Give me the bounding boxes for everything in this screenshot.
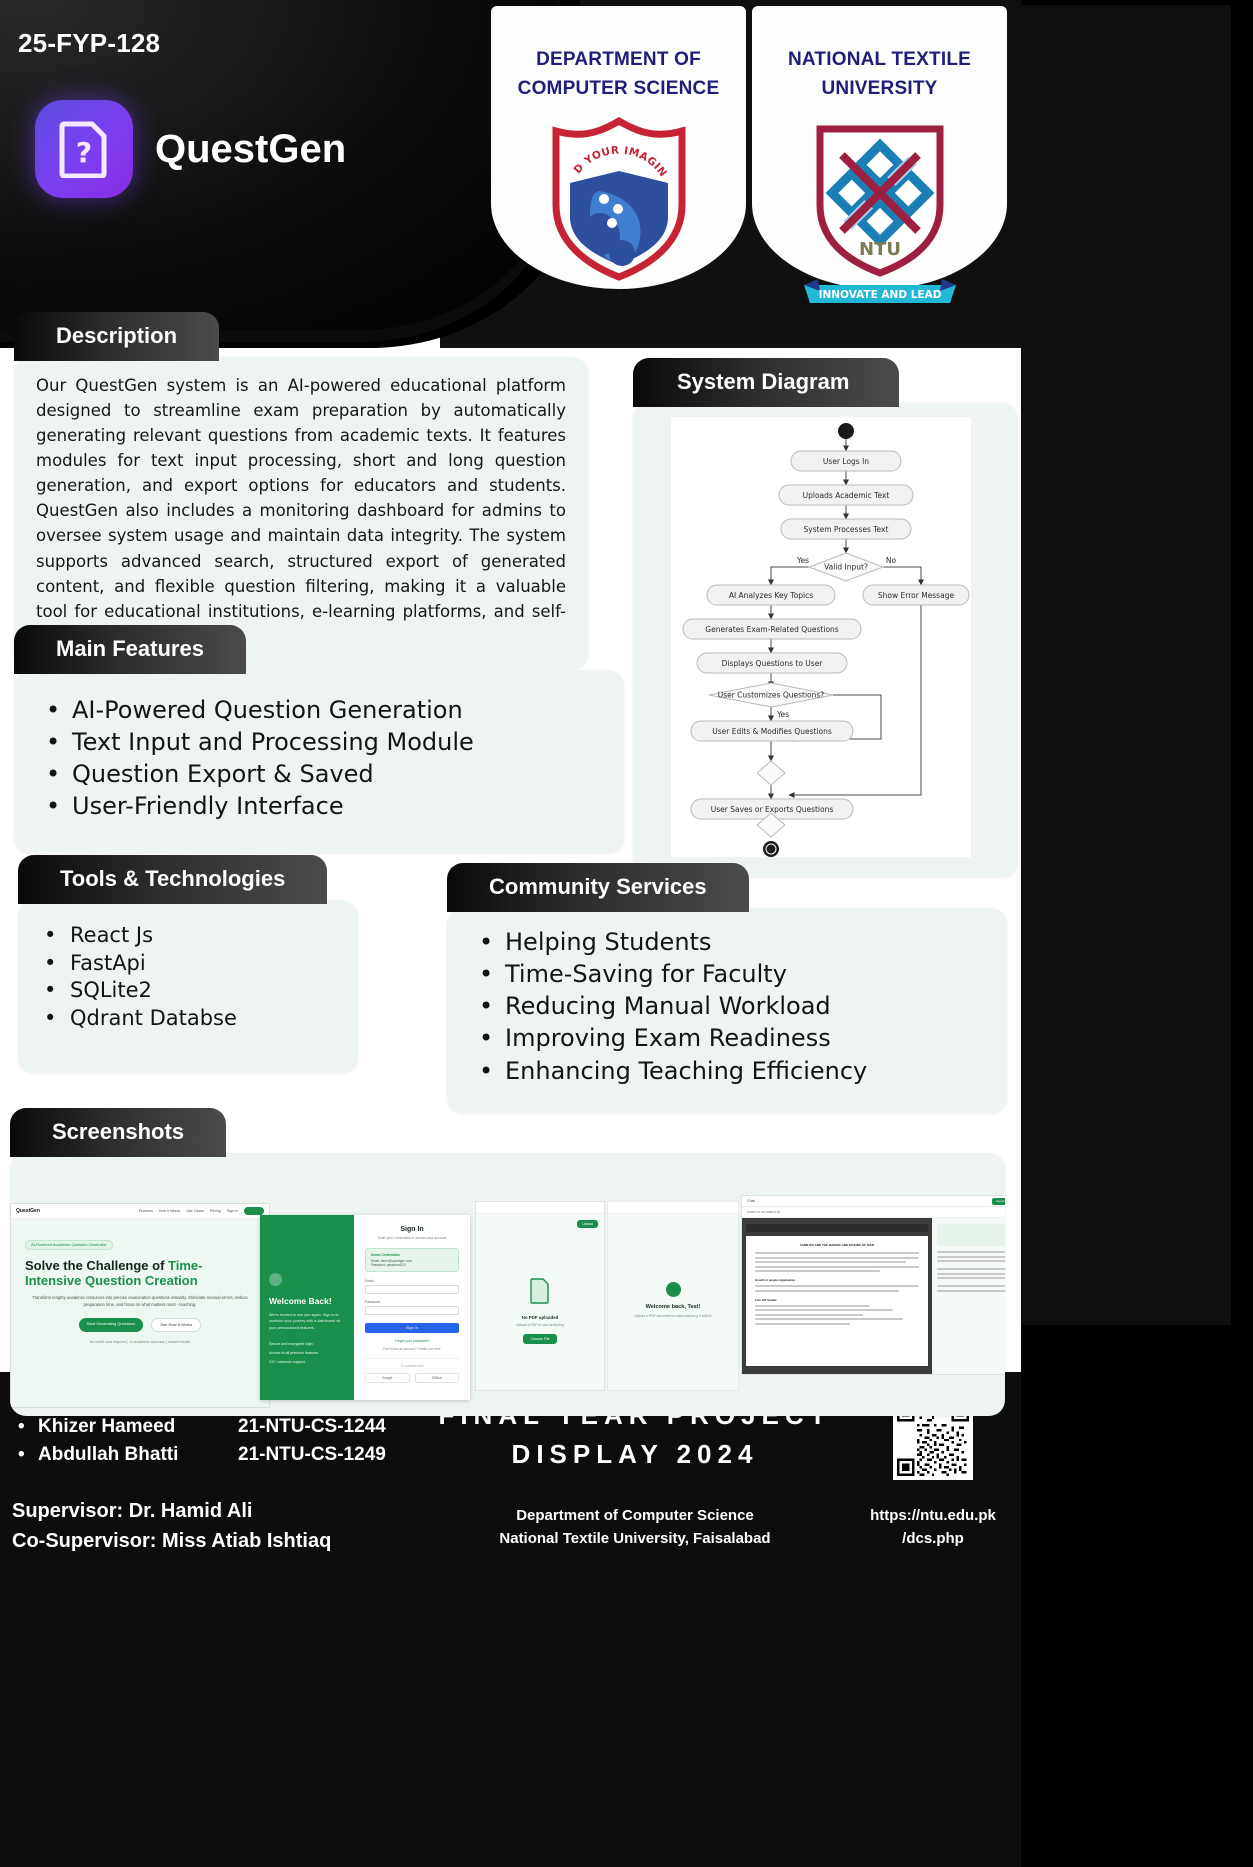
edge-label-no: No <box>886 556 897 565</box>
end-node <box>763 841 779 857</box>
nav-cta-button[interactable] <box>244 1207 264 1215</box>
ntu-title-line2: UNIVERSITY <box>821 78 937 99</box>
svg-text:Displays Questions to User: Displays Questions to User <box>722 659 824 668</box>
signin-demo-label: Demo Credentials <box>371 1253 453 1257</box>
list-item: Improving Exam Readiness <box>505 1022 987 1054</box>
screenshot-upload-page[interactable]: Upload No PDF uploaded Upload a PDF to s… <box>475 1201 605 1391</box>
decision-node: Valid Input? <box>809 553 883 581</box>
flow-node: User Logs In <box>791 451 901 471</box>
section-community-services: Community Services Helping Students Time… <box>447 863 1007 1113</box>
decision-node: User Customizes Questions? <box>709 683 833 707</box>
ntu-logo-title: NATIONAL TEXTILE UNIVERSITY <box>788 46 971 103</box>
landing-title-part1: Solve the Challenge of <box>25 1258 168 1273</box>
signin-welcome-title: Welcome Back! <box>269 1296 345 1306</box>
upload-choose-file-button[interactable]: Choose File <box>523 1334 556 1344</box>
list-item: Reducing Manual Workload <box>505 990 987 1022</box>
section-system-diagram-heading: System Diagram <box>633 358 899 407</box>
chat-message-bubble <box>937 1224 1005 1246</box>
doc-title: FAMILIES AND THE MAKING AND MAKING OF MA… <box>755 1243 919 1247</box>
signin-form-title: Sign In <box>365 1226 459 1233</box>
dcs-shield-icon: BEYOND YOUR IMAGINATION <box>544 113 694 288</box>
ntu-logo-card: NATIONAL TEXTILE UNIVERSITY <box>752 6 1007 289</box>
list-item: Helping Students <box>505 926 987 958</box>
flow-node: Uploads Academic Text <box>779 485 913 505</box>
svg-text:Show Error Message: Show Error Message <box>878 591 955 600</box>
email-field[interactable] <box>365 1285 459 1294</box>
svg-text:?: ? <box>76 136 92 169</box>
edge-label-yes-2: Yes <box>776 710 789 719</box>
chat-tab-label[interactable]: Added or not loaded up <box>747 1210 780 1214</box>
dashboard-welcome-title: Welcome back, Test! <box>608 1304 738 1310</box>
upload-empty-text: Upload a PDF to start analyzing <box>476 1323 604 1327</box>
nav-how-it-works[interactable]: How It Works <box>159 1209 180 1213</box>
ntu-shield-icon: NTU INNOVATE AND LEAD <box>800 113 960 309</box>
svg-text:User Saves or Exports Question: User Saves or Exports Questions <box>711 805 834 814</box>
svg-text:Valid Input?: Valid Input? <box>824 563 868 572</box>
landing-title: Solve the Challenge of Time-Intensive Qu… <box>25 1259 255 1288</box>
flow-node: AI Analyzes Key Topics <box>707 585 835 605</box>
ntu-title-line1: NATIONAL TEXTILE <box>788 49 971 70</box>
flow-node: User Edits & Modifies Questions <box>691 721 853 741</box>
signin-email-label: Email <box>365 1279 459 1283</box>
co-supervisor-name: Co-Supervisor: Miss Atiab Ishtiaq <box>12 1530 331 1553</box>
doc-section-1: Growth in people organization <box>755 1278 919 1282</box>
oauth-github-button[interactable]: GitHub <box>415 1373 460 1383</box>
nav-pricing[interactable]: Pricing <box>210 1209 221 1213</box>
poster-footer: Group Members • Khizer Hameed 21-NTU-CS-… <box>0 1372 1021 1867</box>
chat-generate-button[interactable]: Generate Questions <box>992 1198 1005 1205</box>
nav-use-cases[interactable]: Use Cases <box>186 1209 204 1213</box>
screenshot-landing-page[interactable]: QuestGen Features How It Works Use Cases… <box>10 1203 270 1408</box>
dashboard-avatar-icon <box>666 1282 681 1297</box>
signin-bullet-2: Access to all premium features <box>269 1349 345 1358</box>
signin-submit-button[interactable]: Sign In <box>365 1323 459 1333</box>
section-community-body: Helping Students Time-Saving for Faculty… <box>447 908 1007 1113</box>
list-item: FastApi <box>70 950 338 978</box>
flow-node: System Processes Text <box>781 519 911 539</box>
svg-text:INNOVATE AND LEAD: INNOVATE AND LEAD <box>818 289 941 301</box>
group-members-list: • Khizer Hameed 21-NTU-CS-1244 • Abdulla… <box>18 1416 386 1472</box>
member-name: Khizer Hameed <box>38 1416 238 1438</box>
merge-node <box>757 761 785 785</box>
department-line1: Department of Computer Science <box>516 1507 754 1524</box>
section-tools-technologies: Tools & Technologies React Js FastApi SQ… <box>18 855 358 1073</box>
section-tools-heading: Tools & Technologies <box>18 855 327 904</box>
svg-text:User Edits & Modifies Question: User Edits & Modifies Questions <box>712 727 832 736</box>
member-id: 21-NTU-CS-1249 <box>238 1444 386 1466</box>
landing-badge: AI-Powered Academic Question Generator <box>25 1240 113 1250</box>
member-name: Abdullah Bhatti <box>38 1444 238 1466</box>
section-description-heading: Description <box>14 312 219 361</box>
signin-signup-link[interactable]: Don't have an account? Create one here <box>365 1347 459 1351</box>
website-url-block[interactable]: https://ntu.edu.pk /dcs.php <box>845 1504 1021 1551</box>
landing-brand: QuestGen <box>16 1208 40 1214</box>
list-item: SQLite2 <box>70 977 338 1005</box>
app-name: QuestGen <box>155 127 346 172</box>
activity-diagram: User Logs In Uploads Academic Text Syste… <box>671 417 971 857</box>
svg-text:NTU: NTU <box>859 239 901 260</box>
flow-node: Show Error Message <box>863 585 969 605</box>
section-tools-body: React Js FastApi SQLite2 Qdrant Databse <box>18 900 358 1073</box>
screenshot-chat-analysis-page[interactable]: Chat Generate Questions Added or not loa… <box>741 1195 1005 1375</box>
signin-welcome-text: We're excited to see you again. Sign in … <box>269 1312 345 1331</box>
member-row: • Abdullah Bhatti 21-NTU-CS-1249 <box>18 1444 386 1466</box>
svg-text:Generates Exam-Related Questio: Generates Exam-Related Questions <box>705 625 839 634</box>
upload-top-button[interactable]: Upload <box>577 1220 598 1228</box>
section-system-diagram: System Diagram <box>633 358 1018 877</box>
upload-empty-title: No PDF uploaded <box>476 1315 604 1320</box>
edge-label-yes: Yes <box>796 556 809 565</box>
screenshot-welcome-dashboard[interactable]: Welcome back, Test! Upload a PDF documen… <box>607 1201 739 1391</box>
list-item: Enhancing Teaching Efficiency <box>505 1055 987 1087</box>
nav-sign-in[interactable]: Sign In <box>227 1209 238 1213</box>
department-block: Department of Computer Science National … <box>400 1504 870 1551</box>
flow-node: Displays Questions to User <box>697 653 847 673</box>
svg-text:User Customizes Questions?: User Customizes Questions? <box>718 691 825 700</box>
supervisor-block: Supervisor: Dr. Hamid Ali Co-Supervisor:… <box>12 1500 331 1560</box>
bullet-icon: • <box>18 1444 38 1466</box>
pdf-file-icon <box>529 1278 551 1304</box>
signin-bullet-1: Secure and encrypted login <box>269 1340 345 1349</box>
app-branding: ? QuestGen <box>35 100 346 198</box>
landing-cta-primary[interactable]: Start Generating Questions <box>79 1318 143 1332</box>
member-row: • Khizer Hameed 21-NTU-CS-1244 <box>18 1416 386 1438</box>
community-list: Helping Students Time-Saving for Faculty… <box>505 926 987 1087</box>
dcs-title-line1: DEPARTMENT OF <box>536 49 701 70</box>
main-features-list: AI-Powered Question Generation Text Inpu… <box>72 694 602 823</box>
chat-panel-title: Chat <box>747 1199 755 1203</box>
section-community-heading: Community Services <box>447 863 749 912</box>
url-line2: /dcs.php <box>902 1530 964 1547</box>
password-field[interactable] <box>365 1306 459 1315</box>
right-edge-strip-inner <box>1021 5 1231 1325</box>
dashboard-welcome-subtitle: Upload a PDF document to start analyzing… <box>608 1314 738 1318</box>
poster-root: 25-FYP-128 ? QuestGen DEPARTMENT OF COMP… <box>0 0 1253 1867</box>
screenshot-strip: QuestGen Features How It Works Use Cases… <box>10 1153 1005 1416</box>
list-item: React Js <box>70 922 338 950</box>
department-line2: National Textile University, Faisalabad <box>499 1530 770 1547</box>
section-screenshots-heading: Screenshots <box>10 1108 226 1157</box>
section-main-features-body: AI-Powered Question Generation Text Inpu… <box>14 670 624 853</box>
section-main-features-heading: Main Features <box>14 625 246 674</box>
section-system-diagram-body: User Logs In Uploads Academic Text Syste… <box>633 403 1018 877</box>
list-item: Qdrant Databse <box>70 1005 338 1033</box>
pdf-toolbar[interactable] <box>746 1224 928 1232</box>
signin-demo-pass: Password: password123 <box>371 1263 453 1267</box>
description-text: Our QuestGen system is an AI-powered edu… <box>36 373 566 649</box>
signin-logo-icon <box>269 1273 282 1286</box>
svg-text:System Processes Text: System Processes Text <box>804 525 889 534</box>
list-item: User-Friendly Interface <box>72 790 602 822</box>
svg-text:Uploads Academic Text: Uploads Academic Text <box>803 491 890 500</box>
nav-features[interactable]: Features <box>139 1209 153 1213</box>
flow-node: Generates Exam-Related Questions <box>683 619 861 639</box>
list-item: AI-Powered Question Generation <box>72 694 602 726</box>
screenshot-sign-in-page[interactable]: Welcome Back! We're excited to see you a… <box>260 1215 470 1400</box>
url-line1: https://ntu.edu.pk <box>870 1507 996 1524</box>
list-item: Text Input and Processing Module <box>72 726 602 758</box>
dcs-logo-card: DEPARTMENT OF COMPUTER SCIENCE BEYOND YO… <box>491 6 746 289</box>
section-screenshots-body: QuestGen Features How It Works Use Cases… <box>10 1153 1005 1416</box>
svg-text:User Logs In: User Logs In <box>823 457 869 466</box>
bullet-icon: • <box>18 1416 38 1438</box>
fyp-line2: DISPLAY 2024 <box>512 1439 759 1469</box>
dcs-title-line2: COMPUTER SCIENCE <box>518 78 720 99</box>
signin-form-subtitle: Enter your credentials to access your ac… <box>365 1236 459 1240</box>
signin-divider-label: Or continue with <box>365 1358 459 1368</box>
document-question-icon: ? <box>35 100 133 198</box>
supervisor-name: Supervisor: Dr. Hamid Ali <box>12 1500 331 1523</box>
dcs-logo-title: DEPARTMENT OF COMPUTER SCIENCE <box>518 46 720 103</box>
member-id: 21-NTU-CS-1244 <box>238 1416 386 1438</box>
landing-footnote: No credit card required | 14 academic ac… <box>25 1340 255 1344</box>
oauth-google-button[interactable]: Google <box>365 1373 410 1383</box>
svg-text:AI Analyzes Key Topics: AI Analyzes Key Topics <box>729 591 813 600</box>
signin-forgot-link[interactable]: Forgot your password? <box>365 1339 459 1343</box>
landing-subtitle: Transform lengthy academic resources int… <box>25 1295 255 1308</box>
section-description: Description Our QuestGen system is an AI… <box>14 312 588 669</box>
list-item: Question Export & Saved <box>72 758 602 790</box>
signin-bullet-3: 24/7 customer support <box>269 1358 345 1367</box>
list-item: Time-Saving for Faculty <box>505 958 987 990</box>
landing-cta-secondary[interactable]: See How It Works <box>151 1318 201 1332</box>
project-code: 25-FYP-128 <box>18 28 160 59</box>
start-node <box>838 423 854 439</box>
tools-list: React Js FastApi SQLite2 Qdrant Databse <box>70 922 338 1033</box>
section-screenshots: Screenshots QuestGen Features How It Wor… <box>10 1108 1005 1416</box>
doc-section-2: Free API Update <box>755 1298 919 1302</box>
signin-password-label: Password <box>365 1300 459 1304</box>
section-description-body: Our QuestGen system is an AI-powered edu… <box>14 357 588 669</box>
